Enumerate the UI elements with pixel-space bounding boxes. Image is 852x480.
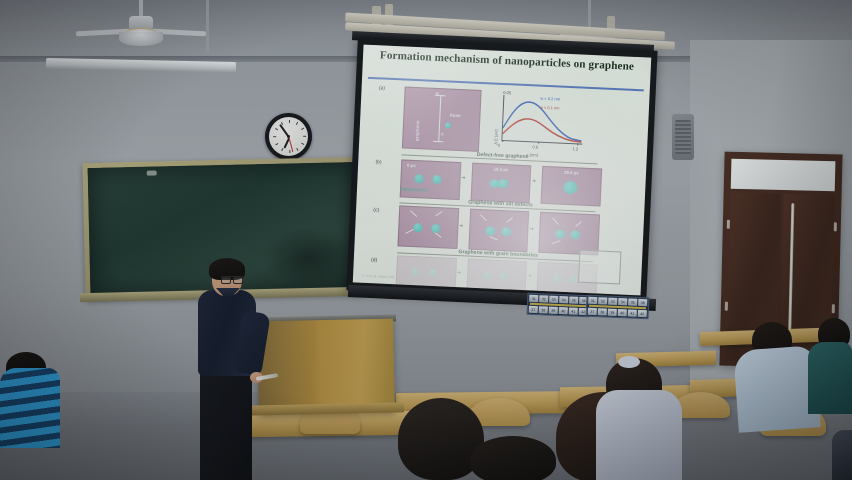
switch-button[interactable]: 39	[549, 307, 558, 314]
wall-speaker-grill	[675, 120, 691, 154]
audience-torso	[808, 342, 852, 414]
projection-screen[interactable]: Formation mechanism of nanoparticles on …	[346, 37, 657, 303]
switch-button[interactable]: 31	[588, 297, 597, 304]
ceiling-fan-rod	[206, 0, 209, 52]
md-frame-c1	[398, 206, 459, 249]
switch-button[interactable]: 42	[638, 310, 647, 317]
frame-time-label: 29.0 ps	[564, 170, 579, 176]
panel-tag-a: (a)	[379, 86, 385, 92]
arrow-icon: ➜	[529, 226, 533, 232]
audience-torso	[596, 390, 682, 480]
arrow-icon: ➜	[527, 274, 531, 280]
audience-head	[470, 436, 556, 480]
atom-dot	[445, 122, 451, 128]
presentation-slide: Formation mechanism of nanoparticles on …	[353, 45, 651, 296]
switch-button[interactable]: 33	[608, 298, 617, 305]
switch-button[interactable]: 32	[539, 295, 548, 302]
audience-torso	[832, 430, 852, 480]
ceiling-fan-dome	[119, 32, 163, 46]
wall-clock	[265, 113, 312, 160]
plot-x-tick-2: 1.2	[572, 146, 578, 151]
plot-legend-series-1: w = 0.2 nm	[540, 96, 560, 102]
md-frame-c2	[468, 209, 529, 252]
clock-center-pin	[287, 135, 290, 138]
slide-title: Formation mechanism of nanoparticles on …	[371, 49, 642, 73]
switch-button[interactable]: 38	[598, 308, 607, 315]
switch-button[interactable]: 33	[549, 296, 558, 303]
presenter-legs	[200, 370, 252, 480]
switch-button[interactable]: 38	[539, 306, 548, 313]
frame-time-label: 19.4 ps	[493, 166, 508, 172]
switch-button[interactable]: 39	[608, 309, 617, 316]
panel-tag-b: (b)	[375, 159, 381, 165]
graphene-label: graphene	[414, 120, 420, 141]
switch-button[interactable]: 40	[618, 309, 627, 316]
chalk-piece	[147, 170, 157, 175]
md-frame-c3	[539, 212, 600, 255]
switch-button[interactable]: 35	[628, 298, 637, 305]
md-frame-b1: 0 ps	[400, 159, 461, 199]
plot-legend-series-2: w = 0.1 nm	[540, 105, 560, 111]
clock-face	[269, 117, 308, 156]
slit-cap-bottom	[433, 140, 443, 141]
panel-tag-d: (d)	[371, 257, 377, 263]
frame-time-label: 0 ps	[407, 163, 416, 168]
switch-button[interactable]: 34	[559, 296, 568, 303]
switch-button[interactable]: 32	[598, 297, 607, 304]
classroom-photo: Formation mechanism of nanoparticles on …	[0, 0, 852, 480]
arrow-icon: ➜	[457, 270, 461, 276]
arrow-icon: ➜	[459, 223, 463, 229]
x-label: x	[441, 131, 444, 136]
arrow-icon: ➜	[532, 178, 536, 184]
slide-inset-box	[578, 250, 622, 285]
switch-button[interactable]: 37	[588, 308, 597, 315]
audience-torso	[0, 368, 60, 448]
md-frame-b2: 19.4 ps	[470, 163, 531, 203]
switch-button[interactable]: 31	[529, 295, 538, 302]
plot-x-tick-1: 0.6	[532, 144, 538, 149]
plot-x-tick-0: 0	[498, 143, 501, 148]
plot-curves	[502, 95, 584, 143]
md-frame-d1	[396, 256, 457, 292]
w-label: w	[435, 91, 439, 96]
energy-barrier-plot: Δ E (eV) 0.05 w = 0.2 nm w = 0.1 nm 0 0.…	[488, 91, 586, 157]
light-switch-panel-right[interactable]: 31 32 33 34 35 36 37 38 39 40 41 42	[586, 295, 650, 320]
switch-button[interactable]: 41	[569, 307, 578, 314]
slide-footer: Y. Li et al. Nano Lett.	[362, 274, 395, 279]
switch-button[interactable]: 37	[529, 306, 538, 313]
switch-button[interactable]: 41	[628, 309, 637, 316]
atom-label: Atom	[449, 113, 460, 119]
graphene-schematic-box: graphene w x Atom	[402, 87, 482, 152]
lectern	[257, 319, 395, 414]
presenter-glasses	[221, 276, 243, 282]
switch-button[interactable]: 34	[618, 298, 627, 305]
light-switch-panel-left[interactable]: 31 32 33 34 35 36 37 38 39 40 41 42	[527, 293, 591, 318]
arrow-icon: ➜	[461, 175, 465, 181]
md-frame-b3: 29.0 ps	[541, 166, 602, 206]
switch-button[interactable]: 40	[559, 307, 568, 314]
switch-button[interactable]: 35	[569, 296, 578, 303]
md-frame-d2	[466, 259, 527, 295]
door-transom-window	[731, 159, 836, 192]
hair-clip	[618, 356, 640, 368]
chalk-smudge	[261, 226, 354, 289]
switch-button[interactable]: 36	[638, 299, 647, 306]
panel-tag-c: (c)	[373, 207, 379, 213]
